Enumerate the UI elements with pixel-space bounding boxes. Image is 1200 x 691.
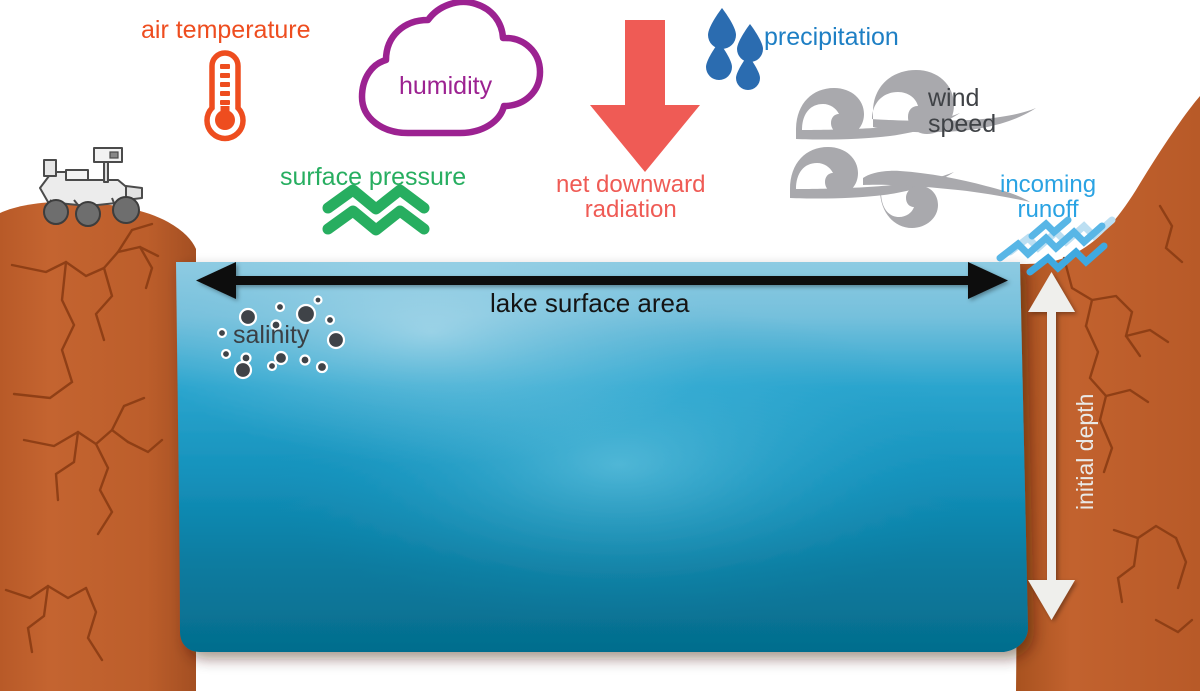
zigzag-pressure-icon [328,190,424,230]
thermometer-icon [207,53,243,138]
label-lake-surface-area: lake surface area [490,290,689,317]
cloud-icon [362,2,540,133]
label-incoming-runoff: incoming runoff [1000,172,1096,222]
down-arrow-icon [590,20,700,172]
label-net-downward-radiation-line2: radiation [556,197,705,222]
label-wind-speed-line2: speed [928,111,996,137]
label-salinity: salinity [233,322,309,348]
label-humidity: humidity [399,73,492,99]
label-precipitation: precipitation [764,24,899,50]
label-net-downward-radiation-line1: net downward [556,172,705,197]
label-air-temperature: air temperature [141,17,311,43]
label-wind-speed: wind speed [928,85,996,138]
raindrop-icon [706,8,763,90]
label-initial-depth: initial depth [1073,394,1097,510]
label-surface-pressure: surface pressure [280,164,466,190]
scene-layer [0,0,1200,691]
diagram-canvas: air temperature humidity surface pressur… [0,0,1200,691]
terrain-left [0,202,196,691]
label-incoming-runoff-line1: incoming [1000,172,1096,197]
label-incoming-runoff-line2: runoff [1000,197,1096,222]
label-wind-speed-line1: wind [928,85,996,111]
label-net-downward-radiation: net downward radiation [556,172,705,222]
mars-rover-icon [40,148,142,226]
